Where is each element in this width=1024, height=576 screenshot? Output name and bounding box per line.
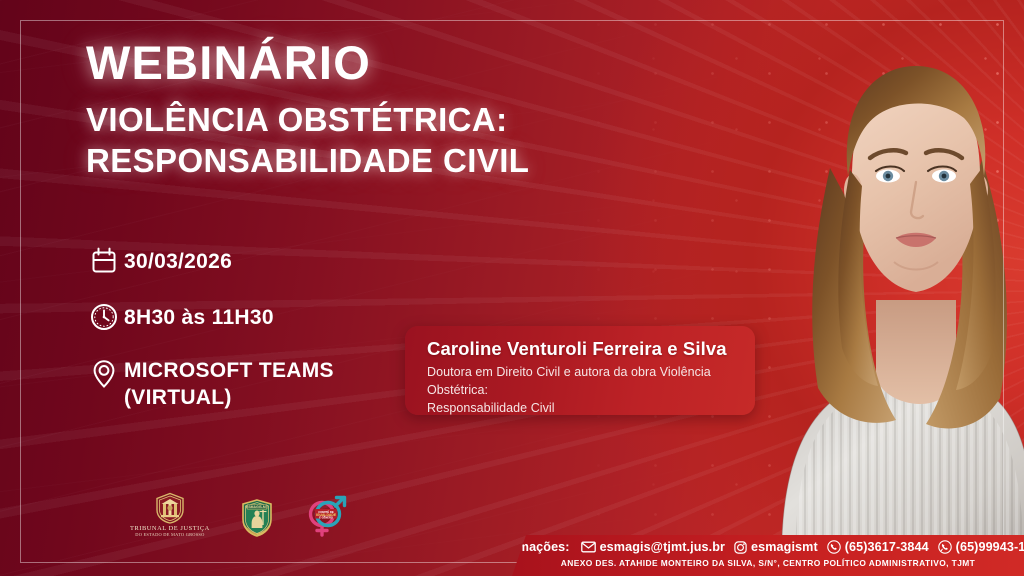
contact-instagram-text: esmagismt: [751, 540, 818, 554]
contact-whatsapp[interactable]: (65)99943-1576: [938, 540, 1024, 554]
tribunal-logo-caption: TRIBUNAL DE JUSTIÇA DO ESTADO DE MATO GR…: [130, 526, 210, 538]
speaker-info-card: Caroline Venturoli Ferreira e Silva Dout…: [405, 326, 755, 415]
event-subject-line-2: RESPONSABILIDADE CIVIL: [86, 141, 706, 181]
webinar-poster: WEBINÁRIO VIOLÊNCIA OBSTÉTRICA: RESPONSA…: [0, 0, 1024, 576]
esmagis-mt-logo: ESMAGIS-MT: [236, 498, 278, 538]
comite-igualdade-genero-logo: COMITÊ DE IGUALDADE E GÊNERO: [304, 492, 348, 538]
instagram-icon: [734, 541, 747, 554]
contact-email[interactable]: esmagis@tjmt.jus.br: [581, 540, 725, 554]
map-pin-icon: [84, 358, 124, 391]
event-time-value: 8H30 às 11H30: [124, 302, 274, 332]
contact-instagram[interactable]: esmagismt: [734, 540, 818, 554]
contact-phone-text: (65)3617-3844: [845, 540, 929, 554]
tribunal-logo-caption-line-2: DO ESTADO DE MATO GROSSO: [130, 533, 210, 538]
event-location-line-1: MICROSOFT TEAMS: [124, 358, 334, 385]
headline-block: WEBINÁRIO VIOLÊNCIA OBSTÉTRICA: RESPONSA…: [86, 38, 706, 181]
event-detail-date: 30/03/2026: [84, 246, 444, 276]
event-subject-title: VIOLÊNCIA OBSTÉTRICA: RESPONSABILIDADE C…: [86, 100, 706, 181]
event-detail-location: MICROSOFT TEAMS (VIRTUAL): [84, 358, 444, 412]
tribunal-de-justica-logo: TRIBUNAL DE JUSTIÇA DO ESTADO DE MATO GR…: [130, 492, 210, 538]
contact-bar: Informações: esmagis@tjmt.jus.br: [512, 535, 1024, 576]
speaker-portrait-photo: [664, 0, 1024, 576]
speaker-bio-line-1: Doutora em Direito Civil e autora da obr…: [427, 364, 737, 400]
calendar-icon: [84, 246, 124, 275]
contact-primary-line: Informações: esmagis@tjmt.jus.br: [512, 540, 1024, 554]
contact-label: Informações:: [489, 540, 569, 554]
logo-row: TRIBUNAL DE JUSTIÇA DO ESTADO DE MATO GR…: [130, 492, 348, 538]
speaker-bio-line-2: Responsabilidade Civil: [427, 400, 737, 418]
contact-address: ANEXO DES. ATAHIDE MONTEIRO DA SILVA, S/…: [512, 558, 1024, 568]
event-type-title: WEBINÁRIO: [86, 38, 706, 87]
speaker-name: Caroline Venturoli Ferreira e Silva: [427, 338, 737, 359]
event-location-value: MICROSOFT TEAMS (VIRTUAL): [124, 358, 334, 412]
event-location-line-2: (VIRTUAL): [124, 385, 334, 412]
whatsapp-icon: [938, 540, 952, 554]
event-subject-line-1: VIOLÊNCIA OBSTÉTRICA:: [86, 100, 706, 140]
event-detail-time: 8H30 às 11H30: [84, 302, 444, 332]
contact-email-text: esmagis@tjmt.jus.br: [600, 540, 725, 554]
svg-text:ESMAGIS-MT: ESMAGIS-MT: [246, 505, 269, 509]
event-details-list: 30/03/2026 8H30 às 11H30: [84, 246, 444, 438]
clock-icon: [84, 302, 124, 331]
envelope-icon: [581, 541, 596, 553]
event-date-value: 30/03/2026: [124, 246, 232, 276]
speaker-bio: Doutora em Direito Civil e autora da obr…: [427, 364, 737, 417]
contact-whatsapp-text: (65)99943-1576: [956, 540, 1024, 554]
phone-icon: [827, 540, 841, 554]
contact-phone[interactable]: (65)3617-3844: [827, 540, 929, 554]
